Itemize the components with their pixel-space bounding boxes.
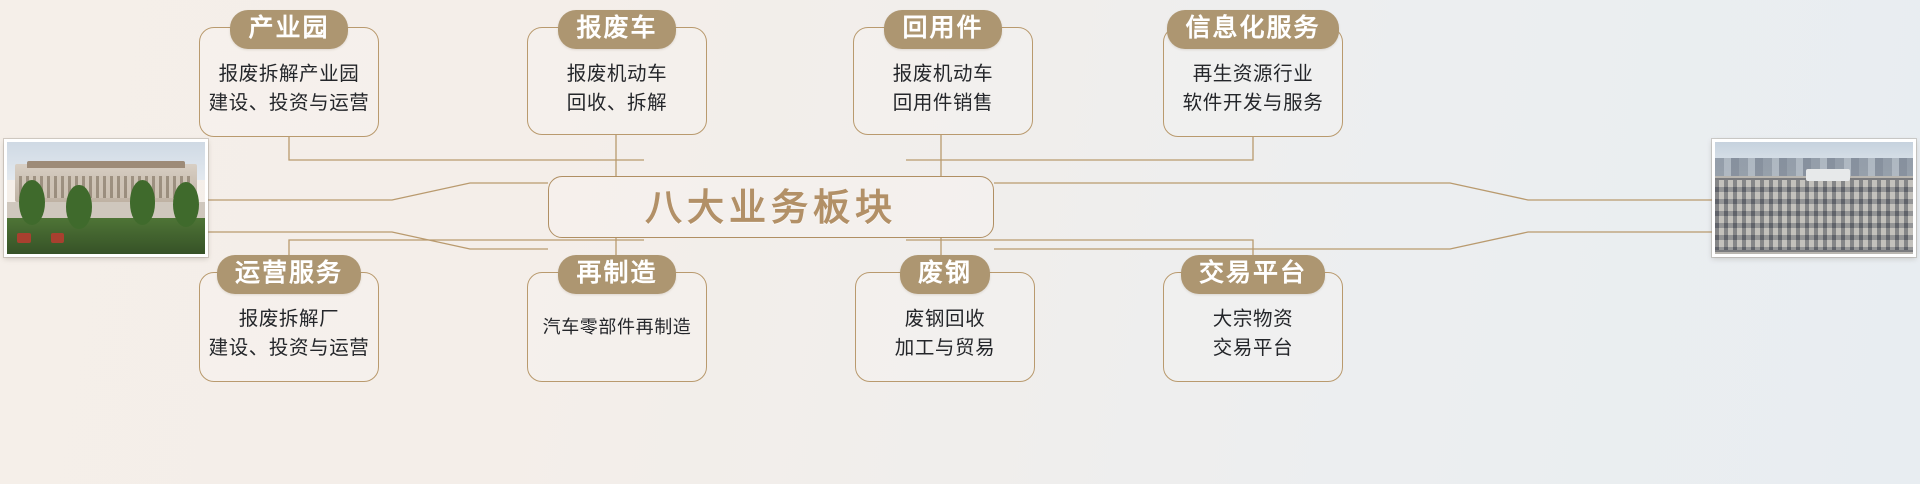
card-description-line: 建设、投资与运营: [209, 89, 370, 118]
card-description-line: 报废机动车: [567, 60, 668, 89]
card-badge: 运营服务: [217, 255, 361, 294]
card-remanufacturing[interactable]: 再制造 汽车零部件再制造: [527, 272, 707, 382]
center-title: 八大业务板块: [645, 189, 897, 226]
card-badge: 回用件: [884, 10, 1001, 49]
photo-tree: [173, 182, 199, 227]
card-description-line: 大宗物资: [1213, 305, 1293, 334]
card-badge: 再制造: [558, 255, 675, 294]
card-description-line: 交易平台: [1213, 334, 1293, 363]
card-scrap-vehicle[interactable]: 报废车 报废机动车 回收、拆解: [527, 27, 707, 135]
card-information-service[interactable]: 信息化服务 再生资源行业 软件开发与服务: [1163, 27, 1343, 137]
card-description-line: 报废机动车: [893, 60, 994, 89]
card-scrap-steel[interactable]: 废钢 废钢回收 加工与贸易: [855, 272, 1035, 382]
photo-building-windows: [19, 176, 193, 198]
card-description-line: 报废拆解产业园: [209, 60, 370, 89]
card-trading-platform[interactable]: 交易平台 大宗物资 交易平台: [1163, 272, 1343, 382]
photo-campus: [4, 139, 208, 257]
photo-red-accent: [17, 233, 31, 243]
card-badge: 交易平台: [1181, 255, 1325, 294]
photo-tree: [19, 180, 45, 225]
card-description: 再生资源行业 软件开发与服务: [1183, 60, 1324, 118]
photo-warehouse: [1806, 169, 1850, 181]
card-description-line: 建设、投资与运营: [209, 334, 370, 363]
card-description: 废钢回收 加工与贸易: [895, 305, 996, 363]
card-industrial-park[interactable]: 产业园 报废拆解产业园 建设、投资与运营: [199, 27, 379, 137]
card-description: 报废拆解厂 建设、投资与运营: [209, 305, 370, 363]
photo-vehicles: [1715, 180, 1913, 249]
card-description-line: 软件开发与服务: [1183, 89, 1324, 118]
photo-red-accent: [51, 233, 65, 243]
card-description-line: 回用件销售: [893, 89, 994, 118]
card-description: 大宗物资 交易平台: [1213, 305, 1293, 363]
card-description: 报废机动车 回用件销售: [893, 60, 994, 118]
infographic-canvas: 八大业务板块 产业园 报废拆解产业园 建设、投资与运营 报废车 报废机动车 回收…: [0, 0, 1920, 484]
card-description: 报废机动车 回收、拆解: [567, 60, 668, 118]
center-node[interactable]: 八大业务板块: [548, 176, 994, 238]
card-description-line: 再生资源行业: [1183, 60, 1324, 89]
card-badge: 产业园: [230, 10, 347, 49]
card-reusable-parts[interactable]: 回用件 报废机动车 回用件销售: [853, 27, 1033, 135]
card-description-line: 回收、拆解: [567, 89, 668, 118]
card-badge: 信息化服务: [1167, 10, 1338, 49]
card-description-line: 加工与贸易: [895, 334, 996, 363]
card-description: 汽车零部件再制造: [543, 314, 692, 341]
card-badge: 报废车: [558, 10, 675, 49]
photo-building-roof: [27, 161, 185, 168]
card-description: 报废拆解产业园 建设、投资与运营: [209, 60, 370, 118]
card-description-line: 汽车零部件再制造: [543, 314, 692, 341]
photo-yard: [1712, 139, 1916, 257]
card-description-line: 报废拆解厂: [209, 305, 370, 334]
card-description-line: 废钢回收: [895, 305, 996, 334]
card-badge: 废钢: [900, 255, 990, 294]
card-operation-service[interactable]: 运营服务 报废拆解厂 建设、投资与运营: [199, 272, 379, 382]
